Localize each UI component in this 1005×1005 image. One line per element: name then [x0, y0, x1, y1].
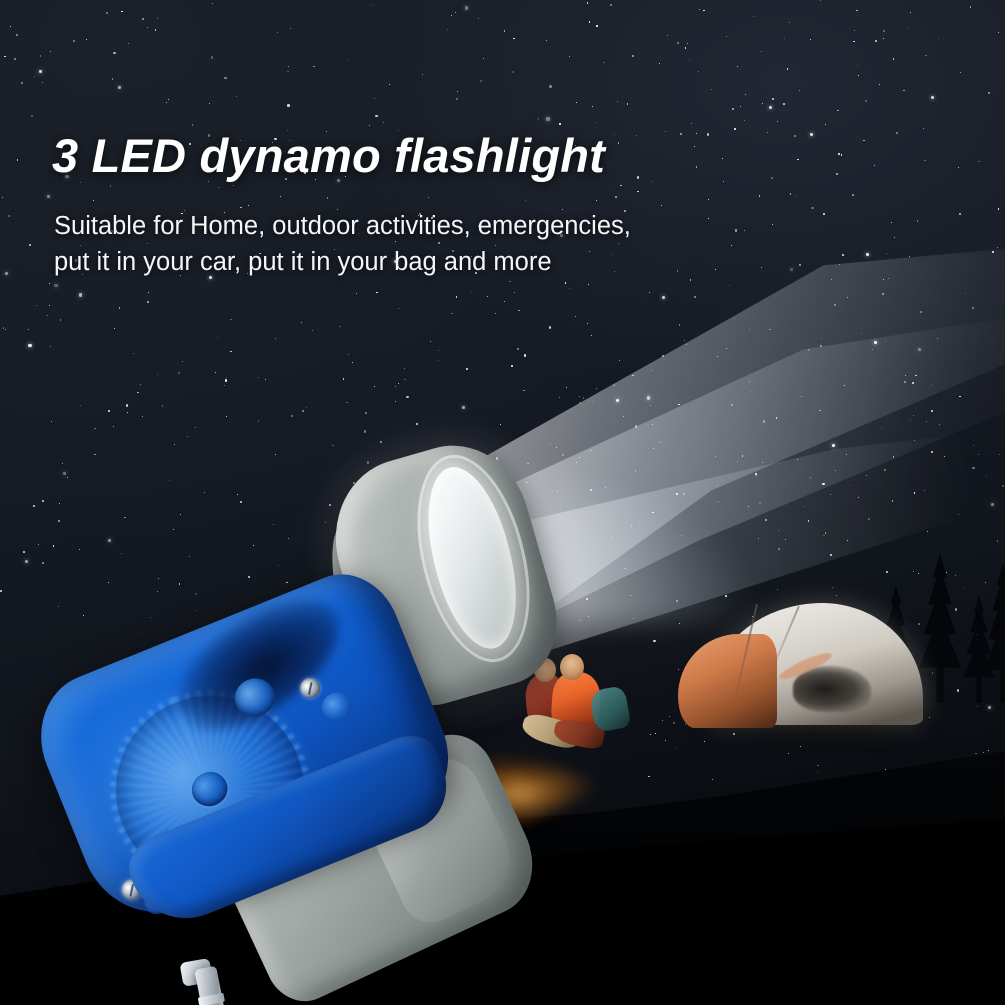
product-poster: 3 LED dynamo flashlight Suitable for Hom… — [0, 0, 1005, 1005]
dynamo-flashlight — [20, 430, 600, 1005]
page-title: 3 LED dynamo flashlight — [52, 128, 605, 183]
subtitle: Suitable for Home, outdoor activities, e… — [54, 208, 631, 280]
subtitle-line-1: Suitable for Home, outdoor activities, e… — [54, 208, 631, 244]
subtitle-line-2: put it in your car, put it in your bag a… — [54, 244, 631, 280]
tent-vestibule — [678, 634, 777, 728]
camping-tent — [678, 598, 938, 728]
wrist-strap — [194, 966, 235, 1005]
